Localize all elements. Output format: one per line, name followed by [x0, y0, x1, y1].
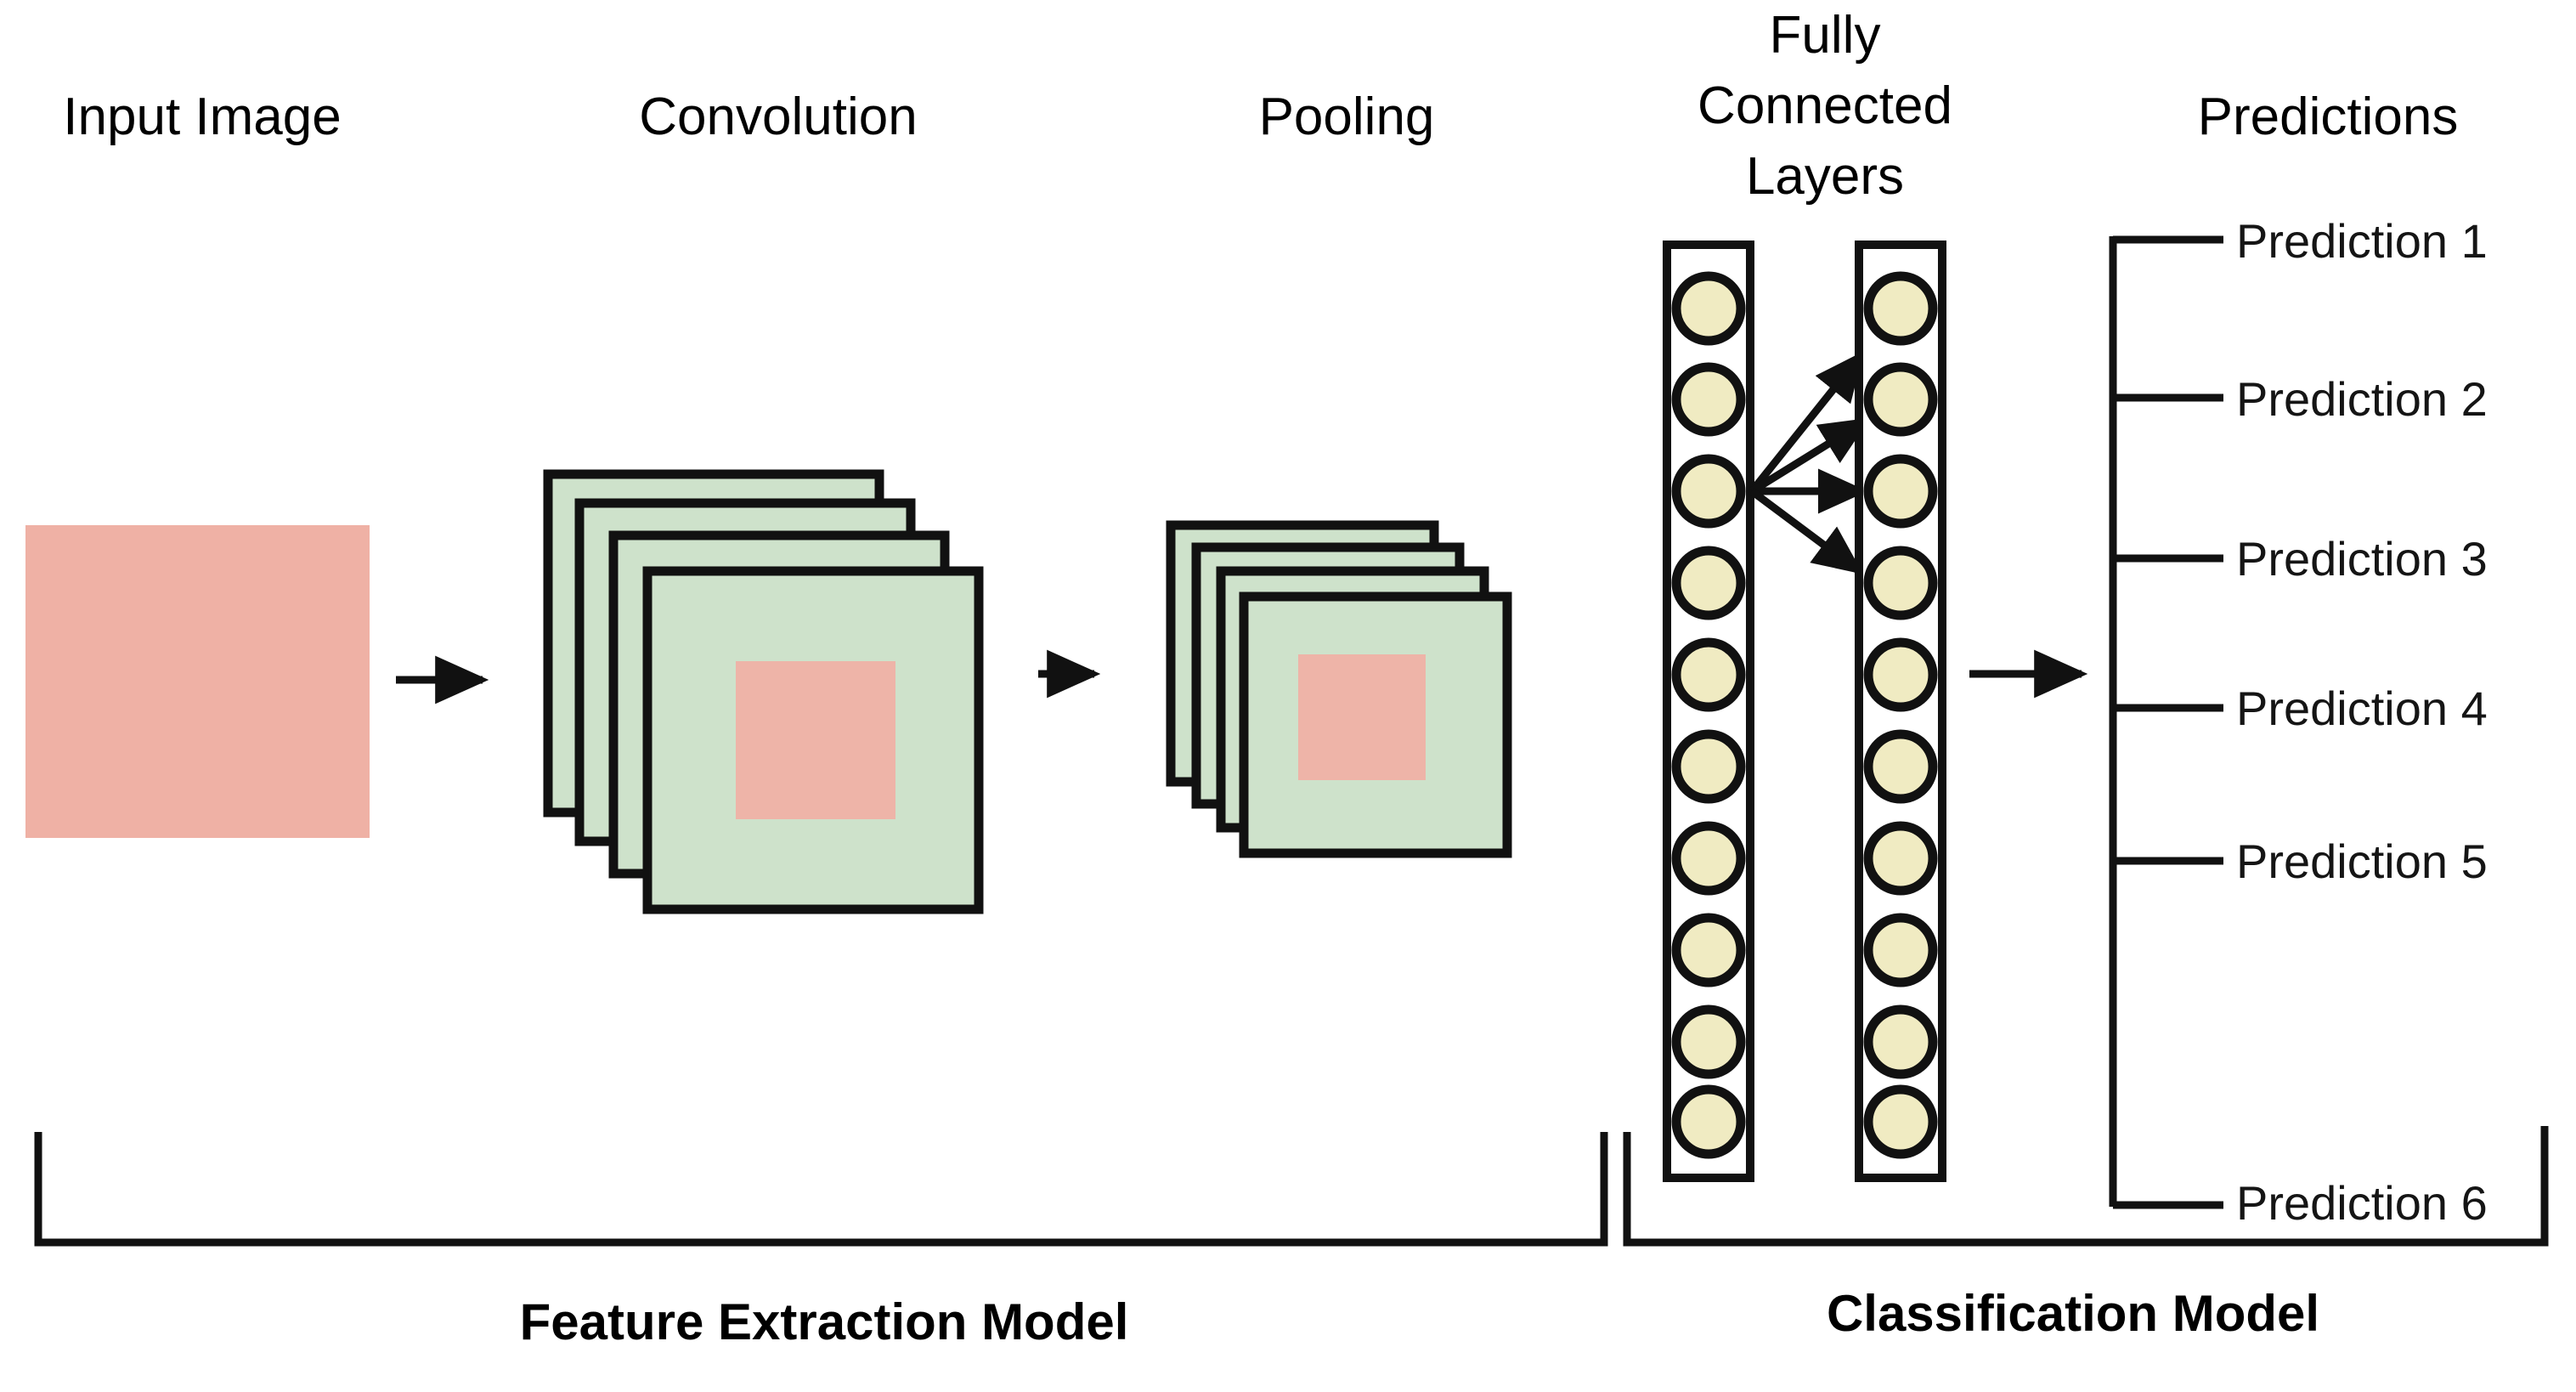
prediction-label-3: Prediction 3 [2236, 532, 2488, 586]
fc-neuron [1676, 826, 1741, 891]
feature-extraction-bracket [38, 1132, 1604, 1242]
convolution-feature-patch [736, 661, 895, 819]
cnn-architecture-diagram: Input Image Convolution Pooling Fully Co… [0, 0, 2576, 1392]
prediction-label-5: Prediction 5 [2236, 835, 2488, 888]
fc-neuron [1676, 1089, 1741, 1154]
predictions-spine [2113, 236, 2223, 1207]
fc-neuron [1676, 1010, 1741, 1074]
fc-neuron [1676, 734, 1741, 799]
fc-neuron [1868, 1010, 1933, 1074]
convolution-stack [548, 474, 979, 909]
fc-neuron [1868, 276, 1933, 341]
pooling-feature-patch [1298, 654, 1426, 780]
fc-neuron [1676, 459, 1741, 523]
fc-neuron [1676, 918, 1741, 982]
footer-classification-model: Classification Model [1827, 1285, 2319, 1342]
fc-neuron [1676, 642, 1741, 707]
prediction-label-6: Prediction 6 [2236, 1176, 2488, 1230]
fc-neuron [1868, 551, 1933, 615]
header-input-image: Input Image [63, 88, 341, 146]
header-convolution: Convolution [639, 88, 917, 146]
fc-neuron [1868, 1089, 1933, 1154]
fc-neuron [1676, 551, 1741, 615]
header-fully-connected-line3: Layers [1746, 147, 1904, 206]
fc-column-2 [1859, 245, 1942, 1178]
header-fully-connected-line2: Connected [1698, 76, 1952, 135]
prediction-label-1: Prediction 1 [2236, 214, 2488, 268]
fc-neuron [1868, 918, 1933, 982]
header-predictions: Predictions [2198, 88, 2459, 146]
fc-neuron [1868, 642, 1933, 707]
fc-neuron [1868, 826, 1933, 891]
footer-feature-extraction-model: Feature Extraction Model [520, 1293, 1129, 1350]
diagram-canvas: Input Image Convolution Pooling Fully Co… [0, 0, 2576, 1392]
fc-connection-arrows [1752, 355, 1866, 571]
fc-arrow-down [1752, 491, 1859, 571]
pooling-stack [1171, 525, 1507, 853]
header-pooling: Pooling [1259, 88, 1435, 146]
fc-neuron [1676, 276, 1741, 341]
fc-neuron [1868, 459, 1933, 523]
fc-column-1 [1667, 245, 1750, 1178]
fc-neuron [1676, 367, 1741, 432]
fc-neuron [1868, 367, 1933, 432]
prediction-label-4: Prediction 4 [2236, 682, 2488, 735]
header-fully-connected-line1: Fully [1770, 6, 1881, 65]
fc-neuron [1868, 734, 1933, 799]
prediction-label-2: Prediction 2 [2236, 372, 2488, 426]
fc-arrow-up-near [1752, 421, 1866, 491]
input-image-square [25, 525, 370, 838]
fc-arrow-up-far [1752, 355, 1861, 491]
